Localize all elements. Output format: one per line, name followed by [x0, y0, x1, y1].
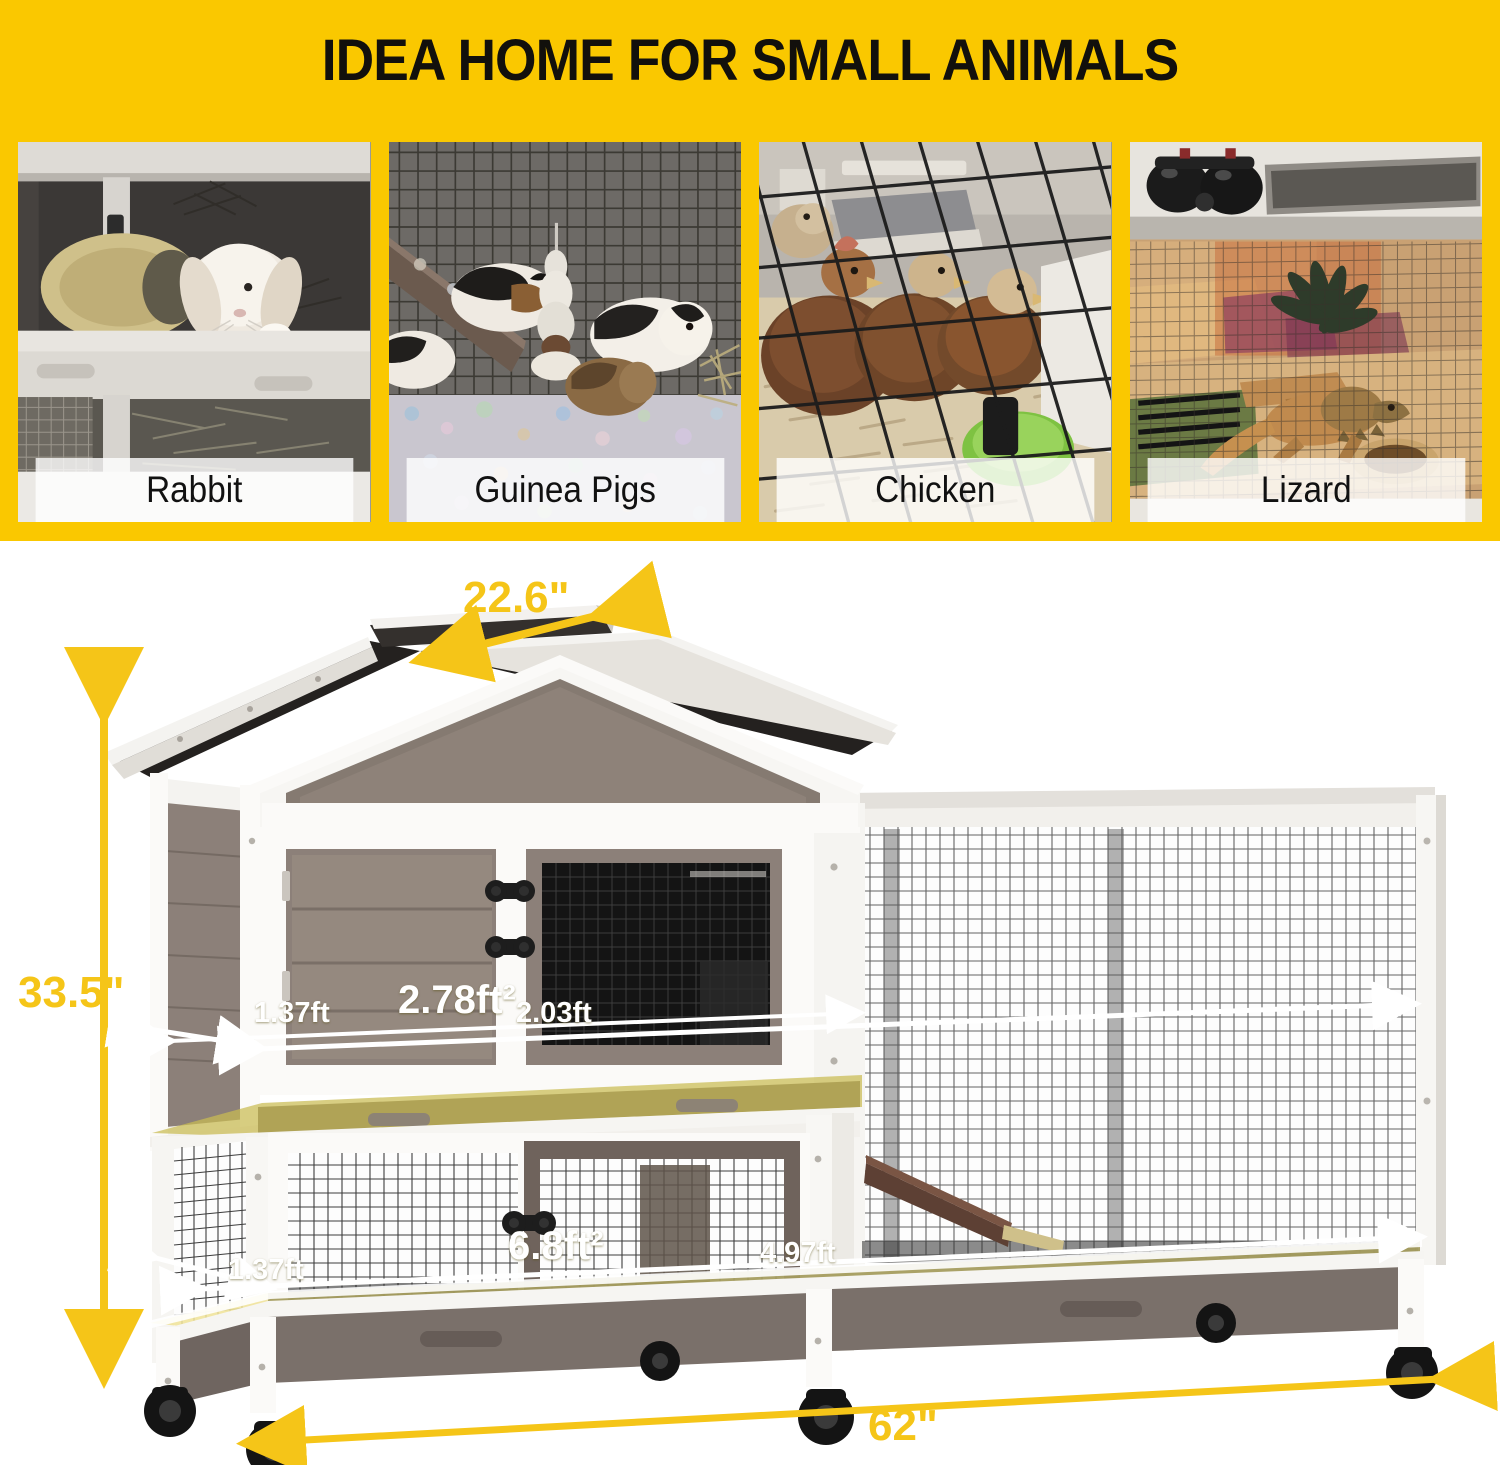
dimension-width-label: 62"	[868, 1401, 938, 1451]
upper-tray-area-label: 2.78ft²	[398, 978, 516, 1023]
lower-tray-area-label: 6.8ft²	[508, 1224, 604, 1269]
photo-caption-chicken: Chicken	[777, 458, 1094, 522]
hutch-illustration	[0, 541, 1500, 1465]
lower-tray-width-label: 4.97ft	[760, 1237, 836, 1270]
lower-tray-depth-label: 1.37ft	[228, 1254, 304, 1287]
photo-card-chicken: Chicken	[759, 142, 1112, 522]
photo-caption-guinea-pigs: Guinea Pigs	[406, 458, 723, 522]
product-dimension-diagram: 22.6" 33.5" 62" 1.37ft 2.78ft² 2.03ft 1.…	[0, 541, 1500, 1465]
upper-tray-depth-label: 1.37ft	[254, 997, 330, 1030]
photo-caption-lizard: Lizard	[1147, 458, 1464, 522]
photo-card-rabbit: Rabbit	[18, 142, 371, 522]
banner-title: IDEA HOME FOR SMALL ANIMALS	[60, 32, 1440, 90]
photo-card-lizard: Lizard	[1130, 142, 1483, 522]
dimension-depth-label: 22.6"	[463, 573, 570, 623]
animal-photo-strip: Rabbit	[18, 142, 1482, 522]
upper-tray-width-label: 2.03ft	[516, 997, 592, 1030]
promo-banner: IDEA HOME FOR SMALL ANIMALS	[0, 0, 1500, 541]
dimension-height-label: 33.5"	[18, 968, 125, 1018]
photo-card-guinea-pigs: Guinea Pigs	[389, 142, 742, 522]
photo-caption-rabbit: Rabbit	[36, 458, 353, 522]
